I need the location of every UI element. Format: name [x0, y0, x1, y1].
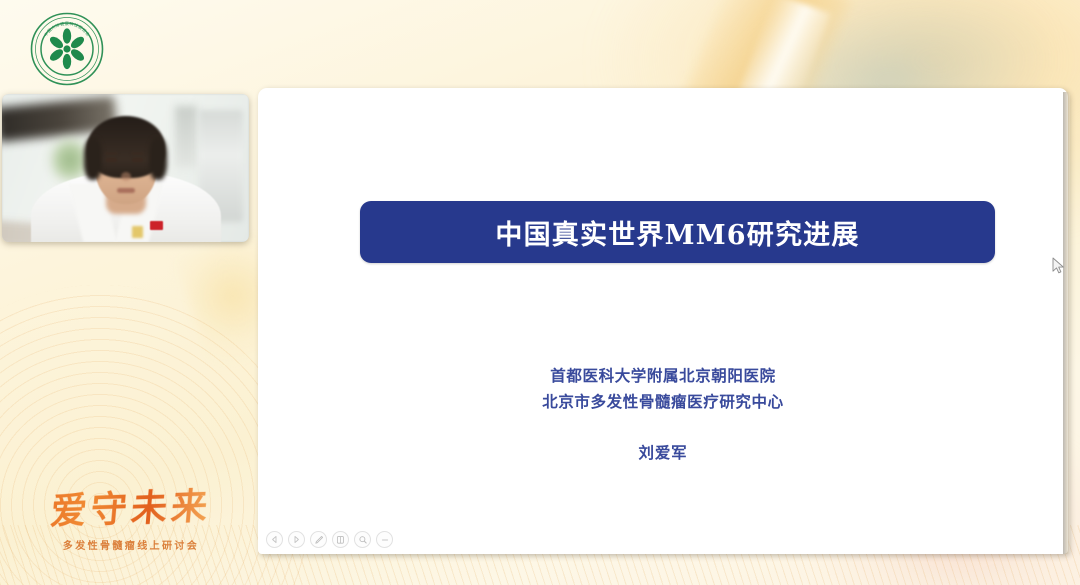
event-calligraphy-logo: 爱守未来 多发性骨髓瘤线上研讨会: [22, 485, 240, 577]
screen-share-stage: 中国人体健康科技促进会: [0, 0, 1080, 585]
presenter-eyebrow-right: [131, 152, 144, 155]
presenter-video-tile[interactable]: [2, 94, 249, 242]
presenter-hair-left: [84, 138, 102, 180]
presenter-eye-right: [132, 158, 143, 162]
presenter-mouth: [117, 188, 135, 193]
presenter-eyebrow-left: [105, 152, 118, 155]
previous-button[interactable]: [266, 531, 283, 548]
minimize-icon: [380, 535, 390, 545]
presenter-eye-left: [106, 158, 117, 162]
multi-window-button[interactable]: [332, 531, 349, 548]
slide-toolbar: [262, 531, 393, 548]
green-circular-flower-emblem: 中国人体健康科技促进会: [29, 11, 105, 87]
slide-right-edge-shadow: [1063, 92, 1070, 554]
event-logo-subtitle: 多发性骨髓瘤线上研讨会: [22, 537, 240, 552]
pen-icon: [314, 535, 324, 545]
affiliation-line-1: 首都医科大学附属北京朝阳医院: [258, 363, 1068, 389]
next-icon: [292, 535, 301, 544]
shared-slide[interactable]: 中国真实世界MM6研究进展 首都医科大学附属北京朝阳医院 北京市多发性骨髓瘤医疗…: [258, 88, 1068, 554]
annotate-button[interactable]: [310, 531, 327, 548]
presenter-nose: [121, 172, 131, 181]
slide-title: 中国真实世界MM6研究进展: [495, 213, 859, 252]
next-button[interactable]: [288, 531, 305, 548]
slide-affiliation-block: 首都医科大学附属北京朝阳医院 北京市多发性骨髓瘤医疗研究中心 刘爱军: [258, 363, 1068, 463]
video-scene: [2, 94, 249, 242]
zoom-button[interactable]: [354, 531, 371, 548]
conference-org-logo: 中国人体健康科技促进会: [29, 11, 105, 87]
copy-icon: [336, 535, 346, 545]
presenter-badge-gold: [132, 226, 143, 238]
cursor-arrow-icon: [1052, 257, 1066, 276]
event-logo-title: 爱守未来: [19, 481, 242, 537]
affiliation-line-2: 北京市多发性骨髓瘤医疗研究中心: [258, 389, 1068, 415]
previous-icon: [270, 535, 279, 544]
presenter-hair-right: [149, 138, 167, 180]
mouse-cursor: [1052, 257, 1066, 281]
slide-title-banner: 中国真实世界MM6研究进展: [360, 201, 995, 263]
video-background-panel: [175, 106, 197, 168]
zoom-icon: [358, 535, 368, 545]
presenter-badge-red: [150, 221, 163, 230]
minimize-button[interactable]: [376, 531, 393, 548]
slide-presenter-name: 刘爱军: [258, 441, 1068, 463]
